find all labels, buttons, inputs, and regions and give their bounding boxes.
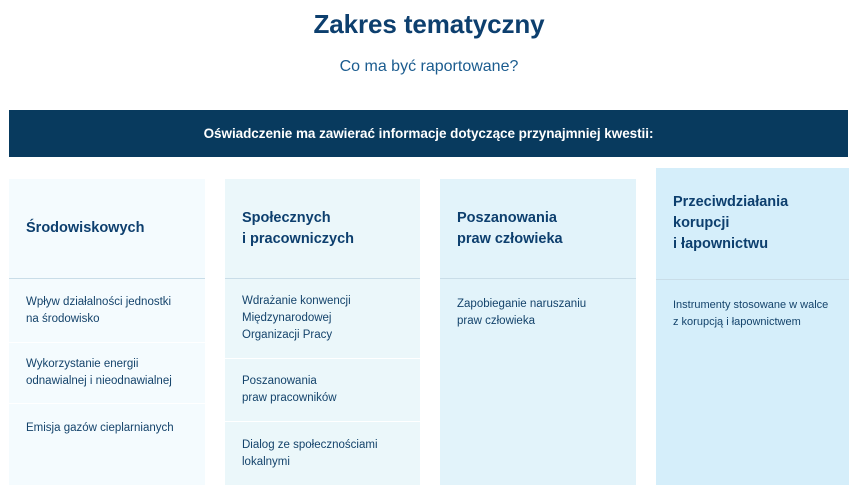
list-item: Instrumenty stosowane w walce z korupcją…: [656, 279, 849, 341]
list-item: Emisja gazów cieplarnianych: [9, 403, 205, 485]
column-items: Wpływ działalności jednostki na środowis…: [9, 278, 205, 485]
column-header: Społecznych i pracowniczych: [225, 179, 420, 278]
topic-columns: Środowiskowych Wpływ działalności jednos…: [0, 0, 858, 492]
column-items: Zapobieganie naruszaniu praw człowieka: [440, 278, 636, 340]
list-item: Zapobieganie naruszaniu praw człowieka: [440, 278, 636, 340]
list-item: Wpływ działalności jednostki na środowis…: [9, 278, 205, 342]
list-item-text: Zapobieganie naruszaniu praw człowieka: [457, 296, 586, 330]
list-item-text: Instrumenty stosowane w walce z korupcją…: [673, 297, 828, 331]
list-item: Poszanowania praw pracowników: [225, 358, 420, 421]
list-item-text: Emisja gazów cieplarnianych: [26, 420, 174, 437]
list-item-text: Wdrażanie konwencji Międzynarodowej Orga…: [242, 293, 351, 344]
topic-column-environmental: Środowiskowych Wpływ działalności jednos…: [9, 179, 205, 485]
list-item-text: Dialog ze społecznościami lokalnymi: [242, 437, 378, 471]
column-heading-text: Środowiskowych: [26, 218, 188, 239]
column-header: Poszanowania praw człowieka: [440, 179, 636, 278]
list-item: Dialog ze społecznościami lokalnymi: [225, 421, 420, 485]
list-item-text: Poszanowania praw pracowników: [242, 373, 337, 407]
topic-column-social-labour: Społecznych i pracowniczych Wdrażanie ko…: [225, 179, 420, 485]
column-header: Środowiskowych: [9, 179, 205, 278]
list-item-text: Wykorzystanie energii odnawialnej i nieo…: [26, 356, 172, 390]
column-heading-text: Przeciwdziałania korupcji i łapownictwu: [673, 192, 832, 255]
topic-column-anti-corruption: Przeciwdziałania korupcji i łapownictwu …: [656, 168, 849, 485]
column-items: Instrumenty stosowane w walce z korupcją…: [656, 279, 849, 341]
topic-column-human-rights: Poszanowania praw człowieka Zapobieganie…: [440, 179, 636, 485]
list-item: Wykorzystanie energii odnawialnej i nieo…: [9, 342, 205, 403]
list-item-text: Wpływ działalności jednostki na środowis…: [26, 294, 171, 328]
column-heading-text: Poszanowania praw człowieka: [457, 208, 619, 250]
column-header: Przeciwdziałania korupcji i łapownictwu: [656, 168, 849, 279]
column-items: Wdrażanie konwencji Międzynarodowej Orga…: [225, 278, 420, 485]
list-item: Wdrażanie konwencji Międzynarodowej Orga…: [225, 278, 420, 358]
column-heading-text: Społecznych i pracowniczych: [242, 208, 403, 250]
